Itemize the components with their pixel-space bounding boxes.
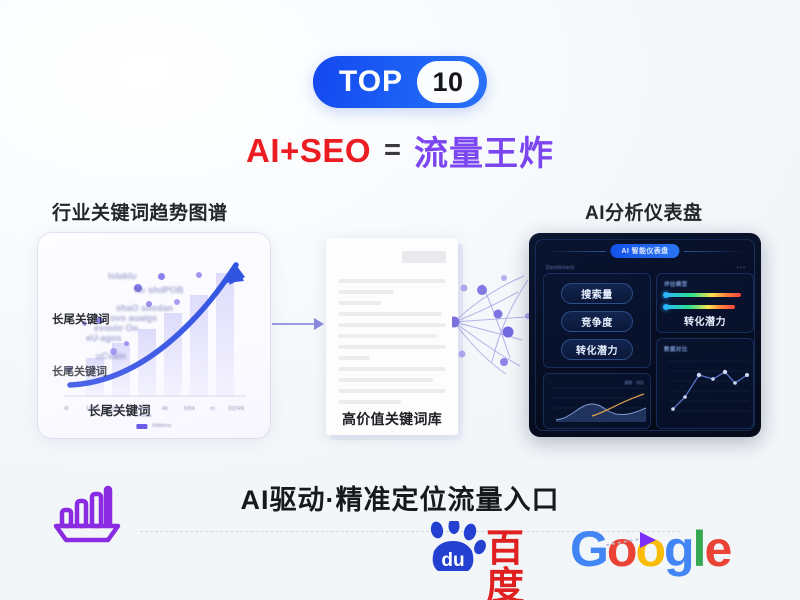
- google-letter-l: l: [693, 524, 705, 574]
- legend-swatch: [136, 424, 147, 429]
- gauge-panel-title: 评估模型: [664, 280, 688, 288]
- blurred-term: eU-agos: [86, 333, 122, 343]
- top-badge-label: TOP: [339, 67, 417, 97]
- doc-line: [338, 367, 446, 371]
- analytics-chart-icon: [48, 484, 126, 546]
- baidu-logo: du 百度: [424, 521, 558, 577]
- line-chart-panel: 数据对比: [656, 338, 754, 429]
- score-gauge-panel: 评估模型 转化潜力: [656, 273, 754, 333]
- slide-canvas: TOP 10 AI+SEO = 流量王炸 行业关键词趋势图谱 AI分析仪表盘: [0, 0, 800, 600]
- scatter-dot: [174, 299, 180, 305]
- cursor-arrow-icon: [606, 510, 660, 530]
- google-letter-g1: G: [570, 524, 607, 574]
- doc-line: [338, 312, 442, 316]
- doc-line: [338, 290, 394, 294]
- x-axis-title: r Etiss: [138, 413, 152, 419]
- doc-caption: 高价值关键词库: [326, 409, 458, 429]
- line-chart-svg: [657, 339, 755, 430]
- top-rank-badge: TOP 10: [313, 56, 487, 108]
- x-axis-label: 4t: [64, 406, 69, 412]
- doc-line-group: [338, 279, 446, 404]
- section-label-dashboard: AI分析仪表盘: [585, 198, 703, 225]
- x-axis-label: 50t4: [184, 406, 195, 412]
- dashboard-menu-icon[interactable]: • • •: [737, 265, 745, 271]
- google-logo: Google: [570, 524, 730, 574]
- keyword-label: 长尾关键词: [52, 363, 107, 379]
- doc-line: [338, 389, 446, 393]
- legend-label: trbbbcnc: [152, 423, 171, 429]
- dashboard-title-badge: AI 智能仪表盘: [610, 244, 679, 258]
- x-axis-label: 2b44: [136, 406, 148, 412]
- blurred-term: uCvain: [96, 351, 126, 361]
- metric-pills-panel: 搜索量 竞争度 转化潜力: [543, 273, 651, 368]
- x-axis-label: nt: [210, 406, 215, 412]
- doc-line: [338, 334, 437, 338]
- scatter-dot: [158, 273, 165, 280]
- doc-line: [338, 345, 446, 349]
- blurred-term: Nc shdPOB: [134, 285, 184, 295]
- area-chart-svg: [544, 374, 652, 430]
- header-rule-left: [544, 251, 606, 252]
- google-letter-g2: g: [664, 524, 693, 574]
- scatter-dot: [124, 341, 129, 346]
- dashboard-subtitle: Dashboard: [546, 265, 574, 271]
- blurred-term: shaO soodan: [116, 303, 173, 313]
- baidu-paw-icon: du: [424, 521, 486, 575]
- doc-line: [338, 301, 381, 305]
- x-axis-label: 02.L: [112, 406, 123, 412]
- dashboard-header: AI 智能仪表盘: [536, 240, 754, 264]
- svg-text:du: du: [441, 550, 464, 571]
- scatter-dot: [196, 272, 202, 278]
- gauge-bar: [665, 293, 741, 297]
- doc-content: [326, 238, 458, 435]
- doc-line: [338, 279, 446, 283]
- top-badge-number: 10: [417, 61, 479, 103]
- x-axis-label: 2024N: [228, 406, 244, 412]
- x-axis-label: 114%: [86, 406, 100, 412]
- dashboard-screen: AI 智能仪表盘 Dashboard • • • 搜索量 竞争度 转化潜力 趋势…: [535, 239, 755, 431]
- page-title: AI+SEO = 流量王炸: [0, 126, 800, 175]
- gauge-bar: [665, 305, 735, 309]
- keyword-library-document: 高价值关键词库: [326, 238, 458, 435]
- baidu-wordmark: 百度: [486, 530, 558, 600]
- section-label-trend: 行业关键词趋势图谱: [52, 198, 228, 225]
- doc-line: [338, 356, 370, 360]
- blurred-term: Iolaklu: [108, 271, 137, 281]
- title-ai-seo: AI+SEO: [246, 132, 371, 170]
- blurred-term: ovo auaigs: [110, 313, 157, 323]
- pill-search-volume[interactable]: 搜索量: [561, 283, 633, 304]
- header-rule-right: [684, 251, 746, 252]
- ai-dashboard: AI 智能仪表盘 Dashboard • • • 搜索量 竞争度 转化潜力 趋势…: [529, 233, 761, 437]
- keyword-trend-card: Iolaklu Nc shdPOB shaO soodan ovo auaigs…: [38, 233, 270, 438]
- gauge-label: 转化潜力: [684, 313, 726, 328]
- pill-conversion-potential[interactable]: 转化潜力: [561, 339, 633, 360]
- title-traffic: 流量王炸: [414, 126, 554, 175]
- google-letter-e: e: [704, 524, 730, 574]
- pill-competition[interactable]: 竞争度: [561, 311, 633, 332]
- title-equals: =: [384, 134, 401, 167]
- doc-line: [338, 323, 446, 327]
- flow-arrow-right: [272, 316, 324, 332]
- area-chart-panel: 趋势 · 对比: [543, 373, 651, 429]
- keyword-label: 长尾关键词: [52, 311, 110, 327]
- chart-legend: trbbbcnc: [136, 423, 171, 429]
- x-axis-label: 4b: [162, 406, 168, 412]
- doc-line: [338, 400, 401, 404]
- doc-line: [338, 378, 433, 382]
